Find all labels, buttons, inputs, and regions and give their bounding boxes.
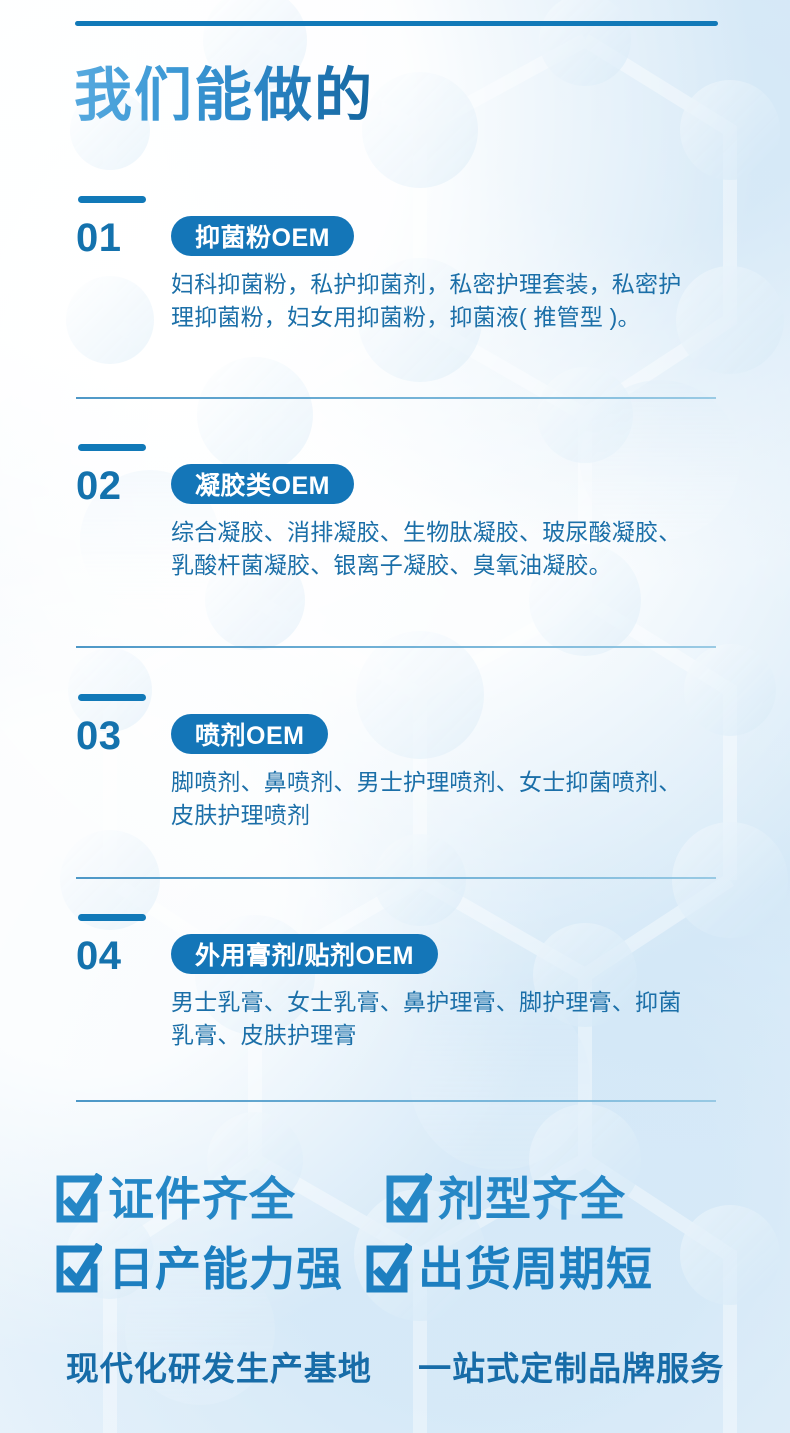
section-separator — [76, 646, 716, 648]
check-box-icon — [50, 1243, 102, 1295]
section-dash-icon — [78, 694, 146, 701]
section-pill-label[interactable]: 凝胶类OEM — [171, 464, 354, 504]
section-number: 03 — [76, 716, 122, 756]
feature-label: 剂型齐全 — [438, 1176, 626, 1222]
section-description: 综合凝胶、消排凝胶、生物肽凝胶、玻尿酸凝胶、乳酸杆菌凝胶、银离子凝胶、臭氧油凝胶… — [171, 516, 703, 583]
feature-item-dosage-forms: 剂型齐全 — [370, 1168, 770, 1230]
section-dash-icon — [78, 196, 146, 203]
page-title: 我们能做的 — [74, 63, 374, 130]
feature-label: 出货周期短 — [418, 1246, 653, 1292]
feature-item-delivery-cycle: 出货周期短 — [360, 1238, 760, 1300]
section-dash-icon — [78, 914, 146, 921]
check-box-icon — [360, 1243, 412, 1295]
poster-page: 我们能做的 01 抑菌粉OEM 妇科抑菌粉，私护抑菌剂，私密护理套装，私密护理抑… — [0, 0, 790, 1433]
section-separator — [76, 397, 716, 399]
check-box-icon — [50, 1173, 102, 1225]
feature-label: 证件齐全 — [108, 1176, 296, 1222]
section-separator — [76, 1100, 716, 1102]
footer-tagline-right: 一站式定制品牌服务 — [418, 1350, 724, 1387]
section-description: 脚喷剂、鼻喷剂、男士护理喷剂、女士抑菌喷剂、皮肤护理喷剂 — [171, 766, 703, 833]
section-pill-label[interactable]: 外用膏剂/贴剂OEM — [171, 934, 438, 974]
section-pill-label[interactable]: 抑菌粉OEM — [171, 216, 354, 256]
section-description: 妇科抑菌粉，私护抑菌剂，私密护理套装，私密护理抑菌粉，妇女用抑菌粉，抑菌液( 推… — [171, 268, 703, 335]
top-rule — [75, 21, 718, 26]
section-description: 男士乳膏、女士乳膏、鼻护理膏、脚护理膏、抑菌乳膏、皮肤护理膏 — [171, 986, 703, 1053]
feature-grid: 证件齐全 剂型齐全 日产能力 — [0, 1168, 790, 1300]
feature-item-daily-capacity: 日产能力强 — [0, 1238, 360, 1300]
feature-item-certificates: 证件齐全 — [0, 1168, 370, 1230]
section-separator — [76, 877, 716, 879]
section-number: 04 — [76, 936, 122, 976]
section-pill-label[interactable]: 喷剂OEM — [171, 714, 328, 754]
section-number: 02 — [76, 466, 122, 506]
check-box-icon — [380, 1173, 432, 1225]
section-number: 01 — [76, 218, 122, 258]
footer-tagline-left: 现代化研发生产基地 — [66, 1350, 372, 1387]
footer-tagline: 现代化研发生产基地 一站式定制品牌服务 — [0, 1342, 790, 1390]
section-dash-icon — [78, 444, 146, 451]
feature-row: 证件齐全 剂型齐全 — [0, 1168, 790, 1230]
feature-row: 日产能力强 出货周期短 — [0, 1238, 790, 1300]
feature-label: 日产能力强 — [108, 1246, 343, 1292]
